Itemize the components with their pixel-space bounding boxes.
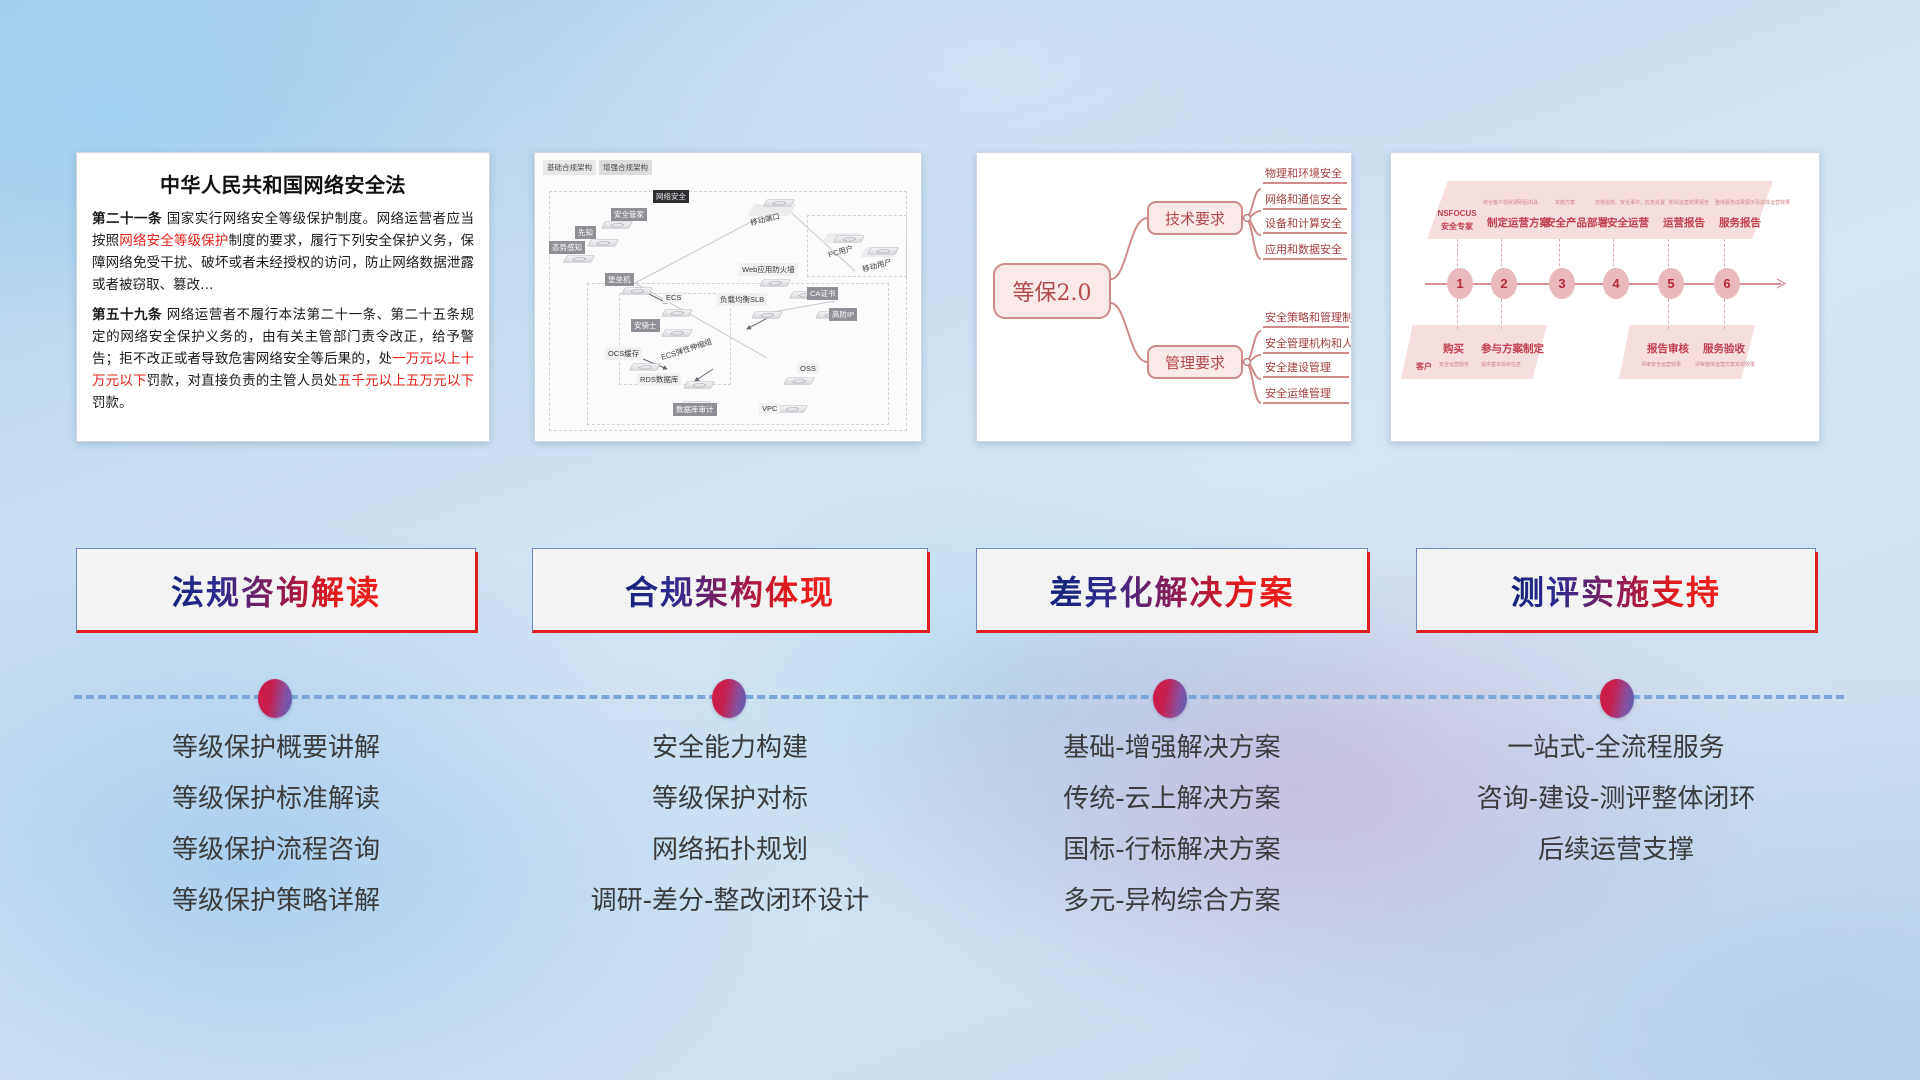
timeline-dot-2[interactable]: [712, 679, 746, 718]
section-items-col-3: 基础-增强解决方案 传统-云上解决方案 国标-行标解决方案 多元-异构综合方案: [976, 735, 1368, 939]
section-label-text-2: 合规架构体现: [625, 566, 835, 614]
section-label-text-3: 差异化解决方案: [1050, 566, 1295, 614]
timeline-dot-3[interactable]: [1153, 679, 1187, 718]
timeline-dot-1[interactable]: [258, 679, 292, 718]
list-item: 网络拓扑规划: [532, 837, 928, 863]
list-item: 等级保护对标: [532, 786, 928, 812]
list-item: 等级保护流程咨询: [76, 837, 476, 863]
section-label-text-1: 法规咨询解读: [171, 566, 381, 614]
timeline-dashed-line: [74, 695, 1844, 699]
section-label-box-2[interactable]: 合规架构体现: [532, 548, 928, 633]
list-item: 等级保护标准解读: [76, 786, 476, 812]
section-label-box-4[interactable]: 测评实施支持: [1416, 548, 1816, 633]
list-item: 一站式-全流程服务: [1416, 735, 1816, 761]
list-item: 多元-异构综合方案: [976, 888, 1368, 914]
section-label-text-4: 测评实施支持: [1511, 566, 1721, 614]
list-item: 调研-差分-整改闭环设计: [532, 888, 928, 914]
list-item: 基础-增强解决方案: [976, 735, 1368, 761]
list-item: 等级保护策略详解: [76, 888, 476, 914]
section-items-col-4: 一站式-全流程服务 咨询-建设-测评整体闭环 后续运营支撑: [1416, 735, 1816, 888]
timeline-dot-4[interactable]: [1600, 679, 1634, 718]
list-item: 安全能力构建: [532, 735, 928, 761]
list-item: 国标-行标解决方案: [976, 837, 1368, 863]
list-item: 后续运营支撑: [1416, 837, 1816, 863]
section-label-box-3[interactable]: 差异化解决方案: [976, 548, 1368, 633]
section-label-box-1[interactable]: 法规咨询解读: [76, 548, 476, 633]
section-items-col-1: 等级保护概要讲解 等级保护标准解读 等级保护流程咨询 等级保护策略详解: [76, 735, 476, 939]
list-item: 传统-云上解决方案: [976, 786, 1368, 812]
list-item: 等级保护概要讲解: [76, 735, 476, 761]
list-item: 咨询-建设-测评整体闭环: [1416, 786, 1816, 812]
section-items-col-2: 安全能力构建 等级保护对标 网络拓扑规划 调研-差分-整改闭环设计: [532, 735, 928, 939]
